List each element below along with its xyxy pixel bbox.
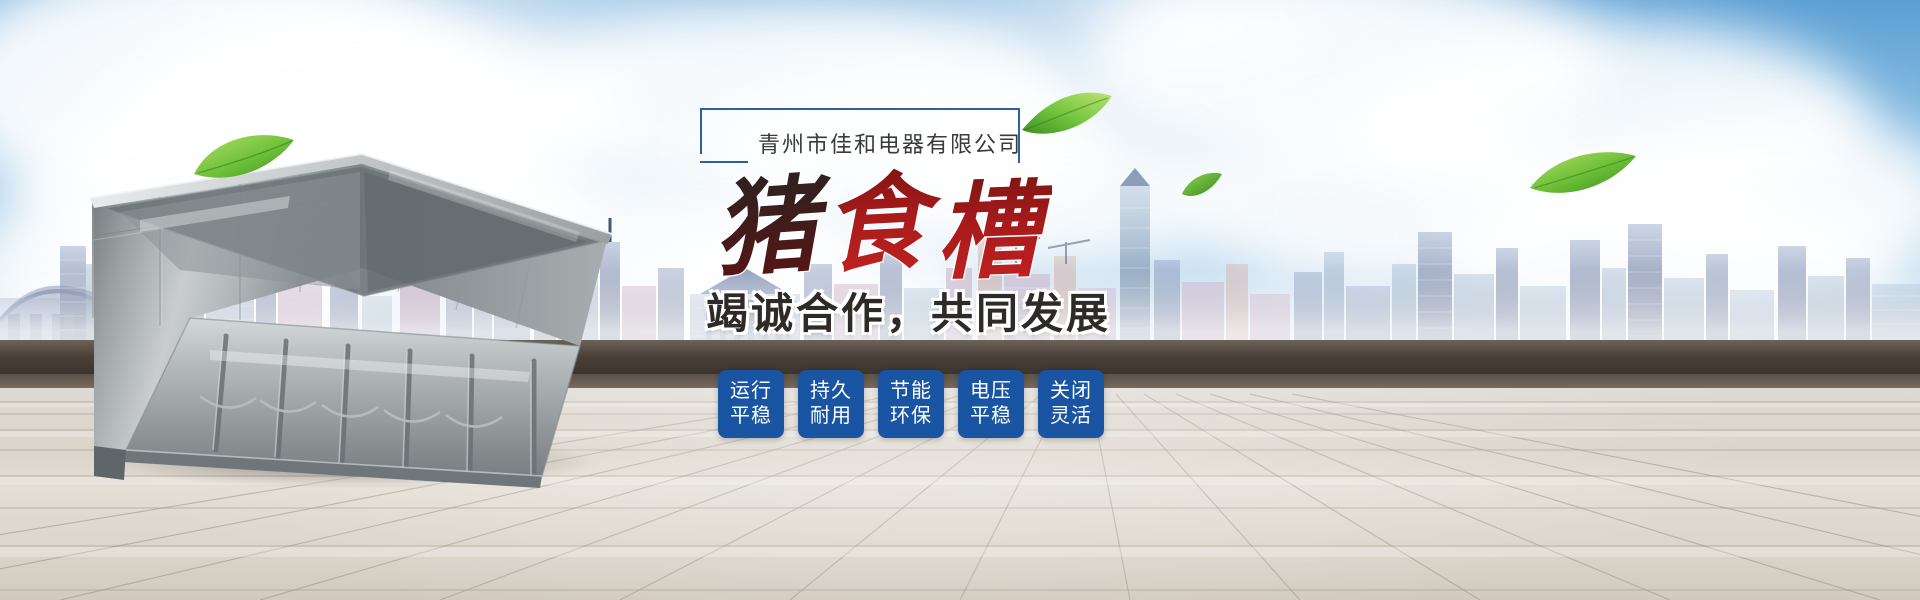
badge-line-1: 运行 (730, 379, 772, 404)
leaf-decoration-small (1180, 170, 1224, 205)
feature-badge-list: 运行 平稳 持久 耐用 节能 环保 电压 平稳 关闭 灵活 (718, 370, 1104, 438)
svg-text:槽: 槽 (934, 168, 1052, 293)
svg-text:食: 食 (820, 168, 946, 287)
feature-badge[interactable]: 节能 环保 (878, 370, 944, 438)
badge-line-2: 环保 (890, 404, 932, 429)
badge-line-1: 节能 (890, 379, 932, 404)
badge-line-2: 耐用 (810, 404, 852, 429)
company-name: 青州市佳和电器有限公司 (752, 127, 1022, 159)
headline-calligraphy: 猪 食 槽 (712, 168, 1052, 293)
promo-banner: 青州市佳和电器有限公司 猪 食 槽 竭诚合作，共同发展 (0, 0, 1920, 600)
badge-line-2: 平稳 (730, 404, 772, 429)
leaf-decoration-left (190, 128, 300, 193)
feature-badge[interactable]: 关闭 灵活 (1038, 370, 1104, 438)
leaf-decoration-right (1528, 148, 1638, 209)
badge-line-1: 关闭 (1050, 379, 1092, 404)
badge-line-1: 电压 (970, 379, 1012, 404)
headline-frame-bottom-tick (700, 161, 748, 163)
pig-feeder-trough-product (60, 150, 620, 490)
badge-line-2: 平稳 (970, 404, 1012, 429)
feature-badge[interactable]: 运行 平稳 (718, 370, 784, 438)
badge-line-2: 灵活 (1050, 404, 1092, 429)
feature-badge[interactable]: 持久 耐用 (798, 370, 864, 438)
leaf-decoration-center (1020, 86, 1116, 147)
slogan-subtitle: 竭诚合作，共同发展 (706, 288, 1086, 340)
headline-frame-left-edge (700, 108, 702, 154)
badge-line-1: 持久 (810, 379, 852, 404)
feature-badge[interactable]: 电压 平稳 (958, 370, 1024, 438)
svg-text:猪: 猪 (712, 168, 839, 292)
